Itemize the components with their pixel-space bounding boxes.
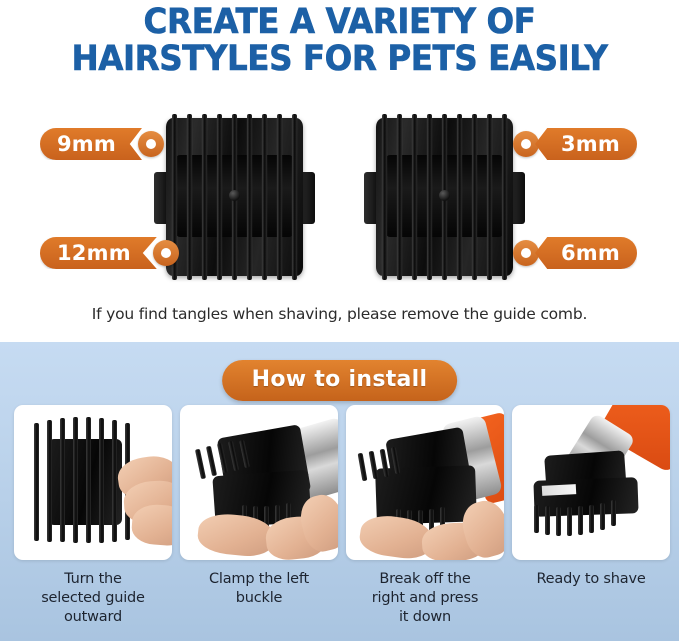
size-badge-6mm: 6mm [513, 237, 637, 269]
install-step-cards [14, 405, 670, 560]
install-step-caption-4: Ready to shave [512, 570, 670, 627]
comb-tooth [217, 114, 222, 280]
size-badge-9mm: 9mm [40, 128, 164, 160]
comb-tooth [502, 114, 507, 280]
install-step-captions: Turn theselected guideoutward Clamp the … [14, 570, 670, 627]
comb-center-knob [229, 190, 240, 201]
infographic-page: CREATE A VARIETY OF HAIRSTYLES FOR PETS … [0, 0, 679, 641]
install-step-caption-2: Clamp the leftbuckle [180, 570, 338, 627]
comb-tooth [487, 114, 492, 280]
step-1-photo [14, 405, 172, 560]
install-step-caption-1: Turn theselected guideoutward [14, 570, 172, 627]
install-step-card-3 [346, 405, 504, 560]
comb-tooth [262, 114, 267, 280]
size-badge-label: 12mm [40, 237, 157, 269]
size-badge-label: 9mm [40, 128, 142, 160]
how-to-install-section: How to install [0, 342, 679, 641]
headline-line-1: CREATE A VARIETY OF [144, 2, 536, 42]
guide-comb-right-image [362, 110, 527, 285]
size-badge-12mm: 12mm [40, 237, 179, 269]
comb-tooth [412, 114, 417, 280]
step-3-photo [346, 405, 504, 560]
size-badge-label: 3mm [535, 128, 637, 160]
how-to-install-banner: How to install [222, 360, 458, 401]
comb-tooth [427, 114, 432, 280]
install-step-card-1 [14, 405, 172, 560]
step-4-photo [512, 405, 670, 560]
comb-tooth [397, 114, 402, 280]
install-step-caption-3: Break off theright and pressit down [346, 570, 504, 627]
page-title: CREATE A VARIETY OF HAIRSTYLES FOR PETS … [24, 4, 655, 78]
comb-center-knob [439, 190, 450, 201]
size-badge-marker-icon [138, 131, 164, 157]
comb-tooth [472, 114, 477, 280]
size-badge-marker-icon [153, 240, 179, 266]
headline-line-2: HAIRSTYLES FOR PETS EASILY [24, 41, 655, 78]
comb-tooth [187, 114, 192, 280]
comb-tooth [457, 114, 462, 280]
comb-tooth [247, 114, 252, 280]
install-step-card-4 [512, 405, 670, 560]
comb-tooth [202, 114, 207, 280]
size-badge-label: 6mm [535, 237, 637, 269]
tangles-note: If you find tangles when shaving, please… [0, 305, 679, 323]
top-section: CREATE A VARIETY OF HAIRSTYLES FOR PETS … [0, 0, 679, 342]
comb-tooth [277, 114, 282, 280]
size-badge-3mm: 3mm [513, 128, 637, 160]
step-2-photo [180, 405, 338, 560]
comb-tooth [292, 114, 297, 280]
comb-tooth [382, 114, 387, 280]
install-step-card-2 [180, 405, 338, 560]
